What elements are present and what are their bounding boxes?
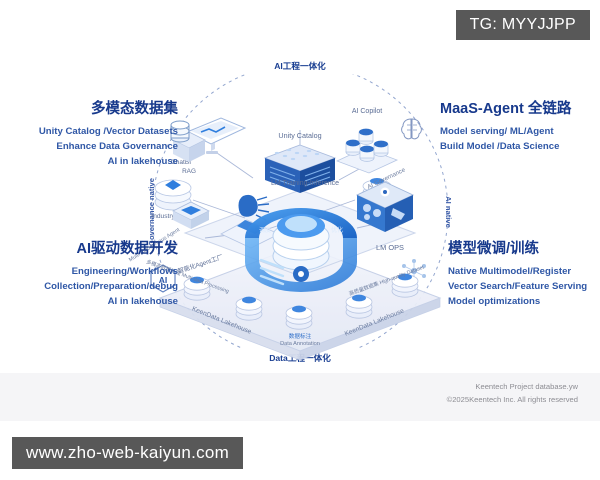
block-ai-driven-development: AI驱动数据开发 Engineering/Workflows Collectio…: [0, 240, 178, 310]
screenshot-canvas: AI工程一体化 Data工程一体化 Governance native AI n…: [0, 0, 600, 480]
block-multimodal-line-2: Enhance Data Governance: [0, 140, 178, 155]
block-finetune-line-2: Vector Search/Feature Serving: [448, 280, 600, 295]
block-aidev-line-2: Collection/Preparation/debug: [0, 280, 178, 295]
site-watermark: www.zho-web-kaiyun.com: [12, 437, 243, 469]
block-model-finetune: 模型微调/训练 Native Multimodel/Register Vecto…: [448, 240, 600, 310]
block-aidev-line-1: Engineering/Workflows: [0, 265, 178, 280]
block-maas-line-1: Model serving/ ML/Agent: [440, 125, 600, 140]
data-annotation-en-label: Data Annotation: [280, 341, 320, 347]
unity-catalog-label: Unity Catalog: [278, 131, 321, 140]
block-finetune-line-3: Model optimizations: [448, 295, 600, 310]
block-finetune-heading: 模型微调/训练: [448, 240, 600, 258]
block-maas-line-2: Build Model /Data Science: [440, 140, 600, 155]
brain-icon: [402, 119, 422, 139]
block-multimodal-line-3: AI in lakehouse: [0, 155, 178, 170]
block-aidev-heading: AI驱动数据开发: [0, 240, 178, 258]
core-label-2: 优化: [331, 226, 343, 234]
footer-copyright: Keentech Project database.yw ©2025Keente…: [298, 381, 578, 406]
rag-label: RAG: [182, 168, 196, 175]
arc-label-top: AI工程一体化: [274, 60, 326, 71]
block-multimodal-heading: 多模态数据集: [0, 100, 178, 118]
footer-line-1: Keentech Project database.yw: [298, 381, 578, 394]
block-multimodal-line-1: Unity Catalog /Vector Datasets: [0, 125, 178, 140]
telegram-watermark: TG: MYYJJPP: [456, 10, 590, 40]
block-finetune-line-1: Native Multimodel/Register: [448, 265, 600, 280]
lm-training-label: LM Training-Inference: [271, 180, 339, 187]
footer-line-2: ©2025Keentech Inc. All rights reserved: [298, 394, 578, 407]
ai-copilot-node: [337, 129, 397, 173]
block-maas-heading: MaaS-Agent 全链路: [440, 100, 600, 118]
block-maas-agent: MaaS-Agent 全链路 Model serving/ ML/Agent B…: [440, 100, 600, 155]
ai-copilot-label: AI Copilot: [352, 108, 382, 115]
arc-label-right: AI native: [444, 196, 453, 228]
block-multimodal-dataset: 多模态数据集 Unity Catalog /Vector Datasets En…: [0, 100, 178, 170]
data-annotation-cn-label: 数据标注: [289, 332, 312, 340]
block-aidev-line-3: AI in lakehouse: [0, 295, 178, 310]
lm-ops-label: LM OPS: [376, 243, 404, 252]
core-label-1: 调度: [259, 226, 271, 234]
